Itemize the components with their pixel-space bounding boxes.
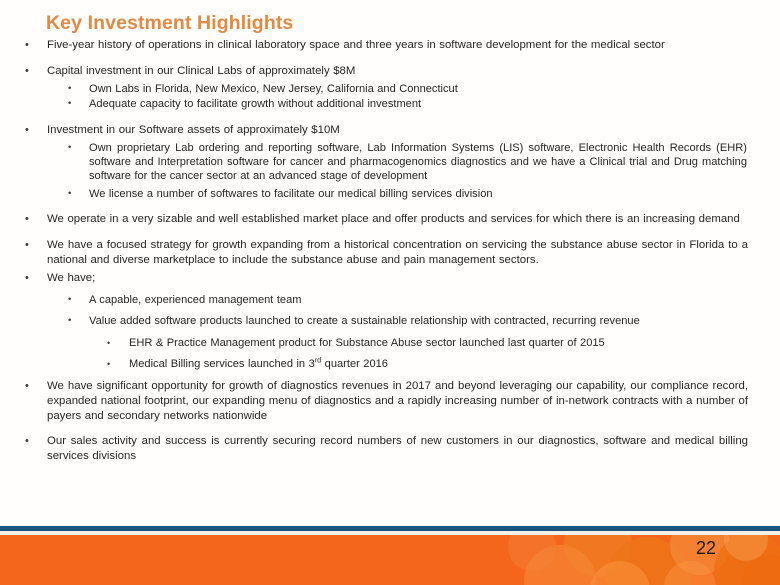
bullet-marker: • <box>25 271 47 286</box>
spacer <box>0 201 780 212</box>
bullet-marker: • <box>68 97 89 112</box>
bullet-marker: • <box>68 82 89 97</box>
bullet-marker: • <box>25 434 47 449</box>
spacer <box>0 423 780 434</box>
bullet-marker: • <box>25 379 47 394</box>
bullet-marker: • <box>68 293 89 308</box>
spacer <box>0 329 780 336</box>
list-item-text: A capable, experienced management team <box>89 293 747 307</box>
list-item: • Own Labs in Florida, New Mexico, New J… <box>0 82 780 97</box>
list-item-text: We have significant opportunity for grow… <box>47 379 748 423</box>
text-after-superscript: quarter 2016 <box>321 358 388 370</box>
list-item: • Our sales activity and success is curr… <box>0 434 780 464</box>
list-item: • Five-year history of operations in cli… <box>0 38 780 53</box>
spacer <box>0 372 780 379</box>
list-item-text: We have a focused strategy for growth ex… <box>47 238 748 268</box>
bullet-marker: • <box>107 357 129 372</box>
list-item-text: Investment in our Software assets of app… <box>47 123 748 138</box>
list-item: • A capable, experienced management team <box>0 293 780 308</box>
bullet-marker: • <box>25 212 47 227</box>
bullet-marker: • <box>68 314 89 329</box>
list-item: • EHR & Practice Management product for … <box>0 336 780 351</box>
list-item-text: Five-year history of operations in clini… <box>47 38 748 53</box>
list-item: • Capital investment in our Clinical Lab… <box>0 64 780 79</box>
list-item: • Value added software products launched… <box>0 314 780 329</box>
list-item: • We have a focused strategy for growth … <box>0 238 780 268</box>
list-item-text: EHR & Practice Management product for Su… <box>129 336 740 350</box>
list-item-text: Own Labs in Florida, New Mexico, New Jer… <box>89 82 747 96</box>
page-number: 22 <box>688 538 724 559</box>
list-item: • We have significant opportunity for gr… <box>0 379 780 423</box>
list-item-text: We have; <box>47 271 748 286</box>
spacer <box>0 307 780 314</box>
list-item: • We license a number of softwares to fa… <box>0 187 780 202</box>
spacer <box>0 112 780 123</box>
page-title: Key Investment Highlights <box>46 12 293 35</box>
bullet-marker: • <box>107 336 129 351</box>
list-item: • We operate in a very sizable and well … <box>0 212 780 227</box>
list-item-text: Value added software products launched t… <box>89 314 747 328</box>
bullet-marker: • <box>25 64 47 79</box>
spacer <box>0 53 780 64</box>
slide-footer: Solutions Driven by Innovation <box>0 535 780 585</box>
list-item: • Adequate capacity to facilitate growth… <box>0 97 780 112</box>
list-item-text: We operate in a very sizable and well es… <box>47 212 748 227</box>
list-item-text: Our sales activity and success is curren… <box>47 434 748 464</box>
list-item-text: Adequate capacity to facilitate growth w… <box>89 97 747 111</box>
list-item: • We have; <box>0 271 780 286</box>
text-before-superscript: Medical Billing services launched in 3 <box>129 358 315 370</box>
list-item: • Investment in our Software assets of a… <box>0 123 780 138</box>
presentation-slide: Key Investment Highlights • Five-year hi… <box>0 0 780 585</box>
list-item-text: Own proprietary Lab ordering and reporti… <box>89 141 747 184</box>
slide-body: • Five-year history of operations in cli… <box>0 38 780 523</box>
bullet-marker: • <box>25 123 47 138</box>
bullet-marker: • <box>68 187 89 202</box>
list-item-text: We license a number of softwares to faci… <box>89 187 747 201</box>
bullet-marker: • <box>68 141 89 156</box>
list-item: • Own proprietary Lab ordering and repor… <box>0 141 780 184</box>
list-item-text: Capital investment in our Clinical Labs … <box>47 64 748 79</box>
spacer <box>0 286 780 293</box>
list-item: • Medical Billing services launched in 3… <box>0 357 780 372</box>
decorative-circles-pattern <box>0 535 780 585</box>
list-item-text: Medical Billing services launched in 3rd… <box>129 357 740 371</box>
bullet-marker: • <box>25 238 47 253</box>
spacer <box>0 227 780 238</box>
spacer <box>0 350 780 357</box>
bullet-marker: • <box>25 38 47 53</box>
